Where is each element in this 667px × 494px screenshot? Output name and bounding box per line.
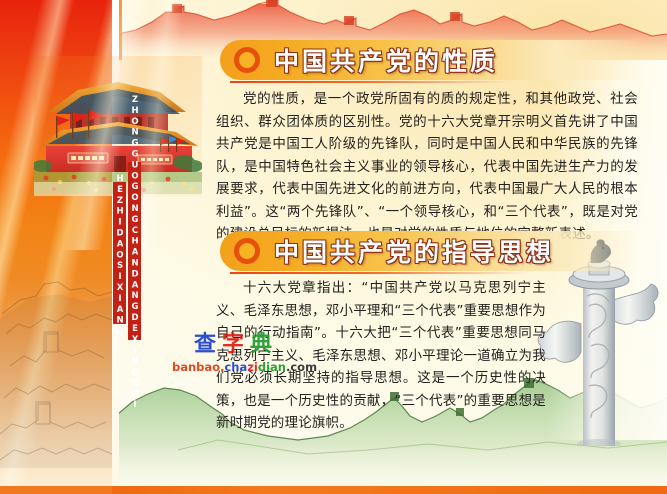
bottom-orange-bar xyxy=(112,486,667,494)
section-body-guiding-ideology: 十六大党章指出：“中国共产党以马克思列宁主义、毛泽东思想，邓小平理和“三个代表”… xyxy=(216,277,546,435)
top-orange-accent-line xyxy=(119,0,122,60)
vertical-pinyin-subtitle: HEZHIDAOSIXIANG xyxy=(113,182,126,324)
ring-icon xyxy=(234,238,260,264)
banner-underline xyxy=(230,81,510,83)
section-banner-nature: 中国共产党的性质 xyxy=(220,40,640,80)
ring-icon xyxy=(234,47,260,73)
section-body-nature: 党的性质，是一个政党所固有的质的规定性，和其他政党、社会组织、群众团体质的区别性… xyxy=(216,88,638,246)
section-banner-guiding-ideology: 中国共产党的指导思想 xyxy=(220,231,640,271)
section-title-guiding-ideology: 中国共产党的指导思想 xyxy=(274,233,554,269)
bottom-orange-bar-left xyxy=(0,486,112,494)
section-title-nature: 中国共产党的性质 xyxy=(274,42,498,78)
great-wall-sketch-left xyxy=(0,238,112,468)
banner-underline xyxy=(230,272,530,274)
vertical-pinyin-title: ZHONGGUOGONGCHANDANGDEXINGZHI xyxy=(128,162,141,340)
poster-canvas: ZHONGGUOGONGCHANDANGDEXINGZHI HEZHIDAOSI… xyxy=(0,0,667,494)
